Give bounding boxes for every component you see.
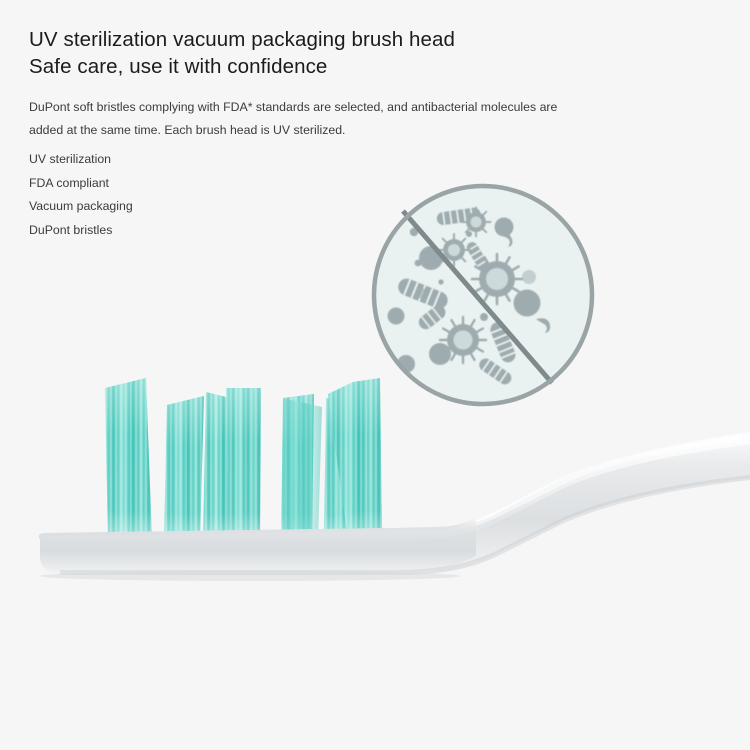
bristle-tuft xyxy=(164,396,204,540)
brush-shadow xyxy=(40,571,460,581)
spiky-virus xyxy=(438,234,470,266)
bristle-tufts xyxy=(105,378,382,540)
headline-line-2: Safe care, use it with confidence xyxy=(29,53,629,80)
description-paragraph: DuPont soft bristles complying with FDA*… xyxy=(29,96,589,142)
bristle-tuft xyxy=(283,398,322,540)
toothbrush-illustration xyxy=(0,360,750,660)
headline-line-1: UV sterilization vacuum packaging brush … xyxy=(29,26,629,53)
feature-item-uv-sterilization: UV sterilization xyxy=(29,148,629,172)
spiky-virus xyxy=(462,208,491,237)
bristle-tuft xyxy=(105,378,152,540)
bristle-tuft xyxy=(226,388,261,540)
